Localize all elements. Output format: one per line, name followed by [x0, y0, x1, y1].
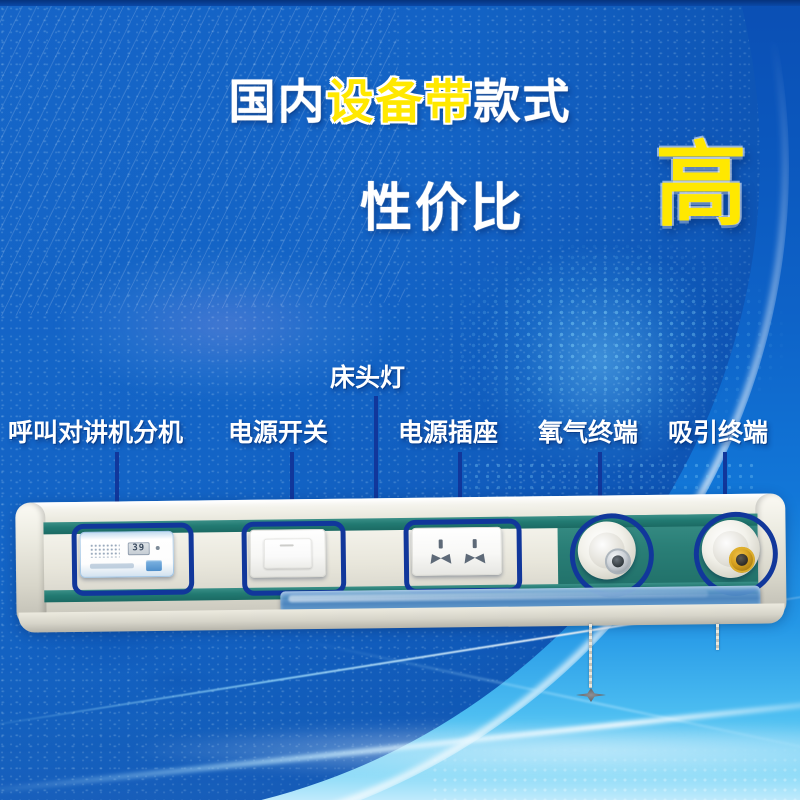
callout-label-bed-lamp: 床头灯 — [330, 358, 405, 394]
pull-cord-oxygen[interactable] — [589, 624, 592, 688]
poster-canvas: 国内设备带款式 性价比 高 呼叫对讲机分机 电源开关 床头灯 电源插座 氧气终端… — [0, 0, 800, 800]
panel-end-cap-left — [15, 502, 47, 626]
callout-label-intercom: 呼叫对讲机分机 — [8, 413, 183, 449]
cord-handle-cross-icon — [576, 688, 606, 702]
pull-cord-handle[interactable] — [576, 680, 606, 710]
medical-bed-head-unit: 39 — [17, 493, 785, 642]
callout-label-suction-terminal: 吸引终端 — [668, 413, 768, 449]
callout-label-power-socket: 电源插座 — [398, 413, 498, 449]
highlight-box-intercom — [71, 523, 194, 596]
bottom-light-bloom — [120, 720, 800, 780]
highlight-box-power-socket — [403, 519, 522, 594]
headline-line-1: 国内设备带款式 — [0, 78, 800, 129]
callout-label-power-switch: 电源开关 — [228, 413, 328, 449]
top-edge-band — [0, 0, 800, 6]
headline-text-a: 国内 — [229, 75, 327, 130]
headline-line-2: 性价比 — [360, 166, 525, 241]
pull-cord-suction[interactable] — [716, 624, 719, 650]
headline-block: 国内设备带款式 — [0, 78, 800, 129]
headline-text-b: 款式 — [474, 75, 572, 130]
headline-highlight-a: 设备带 — [327, 75, 474, 130]
callout-label-oxygen-terminal: 氧气终端 — [538, 413, 638, 449]
headline-highlight-b: 高 — [655, 140, 747, 232]
highlight-box-power-switch — [241, 521, 346, 596]
